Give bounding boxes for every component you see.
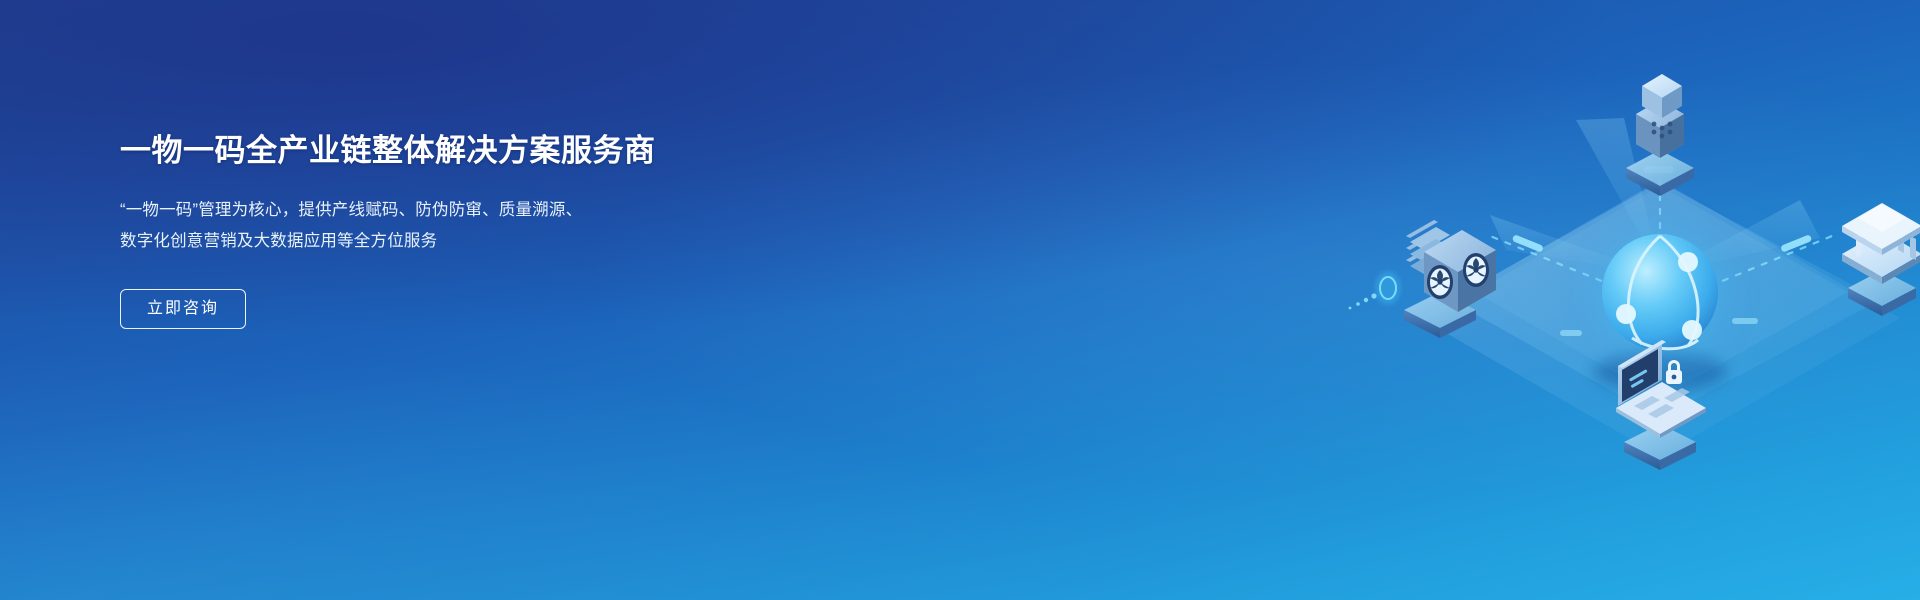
consult-now-button[interactable]: 立即咨询: [120, 289, 246, 329]
pos-terminal-icon: [1626, 74, 1694, 196]
hero-subtitle: “一物一码”管理为核心，提供产线赋码、防伪防窜、质量溯源、 数字化创意营销及大数…: [120, 195, 760, 257]
subtitle-line-1: “一物一码”管理为核心，提供产线赋码、防伪防窜、质量溯源、: [120, 195, 760, 226]
hero-copy: 一物一码全产业链整体解决方案服务商 “一物一码”管理为核心，提供产线赋码、防伪防…: [120, 132, 760, 329]
data-stream-glow: [1349, 271, 1401, 309]
hero-illustration: [1020, 0, 1920, 600]
hero-banner: 一物一码全产业链整体解决方案服务商 “一物一码”管理为核心，提供产线赋码、防伪防…: [0, 0, 1920, 600]
server-rack-icon: [1349, 220, 1496, 338]
page-title: 一物一码全产业链整体解决方案服务商: [120, 132, 760, 169]
subtitle-line-2: 数字化创意营销及大数据应用等全方位服务: [120, 226, 760, 257]
bank-building-icon: [1842, 203, 1920, 316]
